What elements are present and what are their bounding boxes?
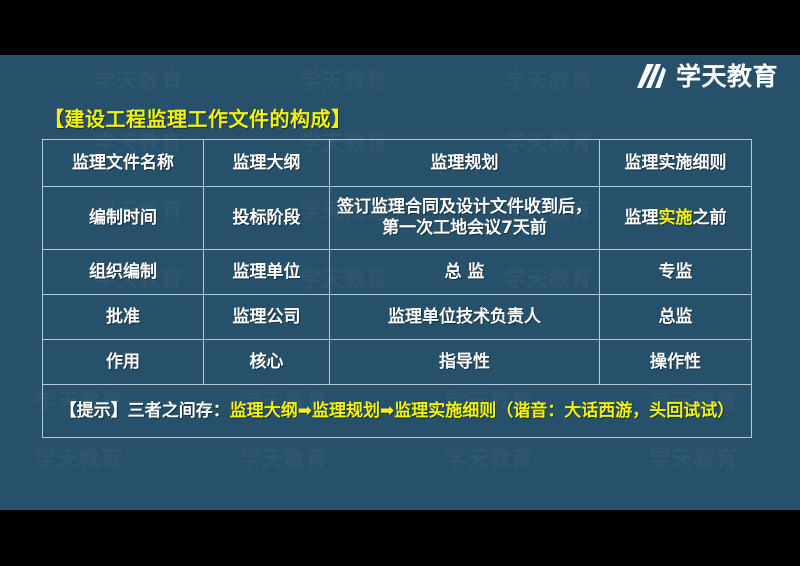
tip-lead-text: 【提示】三者之间存： xyxy=(60,401,230,421)
cell-rules-compile-time: 监理实施之前 xyxy=(600,187,752,250)
letterbox-top xyxy=(0,0,800,55)
cell-plan-organize: 总 监 xyxy=(330,250,600,295)
cell-part-plain: 监理 xyxy=(625,208,659,228)
header-cell-outline: 监理大纲 xyxy=(204,140,330,187)
header-cell-plan: 监理规划 xyxy=(330,140,600,187)
cell-part-highlight: 实施 xyxy=(659,208,693,228)
slide-canvas: 学天教育 学天教育 学天教育 学天教育 学天教育 学天教育 学天教育 学天教育 … xyxy=(0,55,800,510)
letterbox-bottom xyxy=(0,510,800,566)
brand-name: 学天教育 xyxy=(676,64,778,89)
cell-outline-compile-time: 投标阶段 xyxy=(204,187,330,250)
table-header-row: 监理文件名称 监理大纲 监理规划 监理实施细则 xyxy=(43,140,752,187)
cell-rules-approve: 总监 xyxy=(600,295,752,340)
page-title: 【建设工程监理工作文件的构成】 xyxy=(44,103,352,132)
watermark-tile: 学天教育 xyxy=(445,443,533,473)
header-cell-rules: 监理实施细则 xyxy=(600,140,752,187)
cell-outline-organize: 监理单位 xyxy=(204,250,330,295)
row-label-approve: 批准 xyxy=(43,295,204,340)
table-row: 批准 监理公司 监理单位技术负责人 总监 xyxy=(43,295,752,340)
table-tip-row: 【提示】三者之间存：监理大纲➡监理规划➡监理实施细则（谐音：大话西游，头回试试） xyxy=(43,385,752,438)
table-row: 组织编制 监理单位 总 监 专监 xyxy=(43,250,752,295)
cell-rules-function: 操作性 xyxy=(600,340,752,385)
monitoring-documents-table: 监理文件名称 监理大纲 监理规划 监理实施细则 编制时间 投标阶段 签订监理合同… xyxy=(42,139,752,438)
cell-plan-approve: 监理单位技术负责人 xyxy=(330,295,600,340)
row-label-function: 作用 xyxy=(43,340,204,385)
watermark-tile: 学天教育 xyxy=(650,443,738,473)
watermark-tile: 学天教育 xyxy=(95,65,183,95)
cell-outline-function: 核心 xyxy=(204,340,330,385)
row-label-organize: 组织编制 xyxy=(43,250,204,295)
watermark-tile: 学天教育 xyxy=(35,443,123,473)
tip-body-text: 监理大纲➡监理规划➡监理实施细则（谐音：大话西游，头回试试） xyxy=(230,401,735,421)
slide-root: 学天教育 学天教育 学天教育 学天教育 学天教育 学天教育 学天教育 学天教育 … xyxy=(0,0,800,566)
row-label-compile-time: 编制时间 xyxy=(43,187,204,250)
cell-outline-approve: 监理公司 xyxy=(204,295,330,340)
watermark-tile: 学天教育 xyxy=(300,65,388,95)
header-cell-doc-name: 监理文件名称 xyxy=(43,140,204,187)
cell-rules-organize: 专监 xyxy=(600,250,752,295)
watermark-tile: 学天教育 xyxy=(240,443,328,473)
table-row: 作用 核心 指导性 操作性 xyxy=(43,340,752,385)
brand-logo: 学天教育 xyxy=(635,63,778,90)
stripe-mark-icon xyxy=(635,63,669,90)
cell-part-plain: 之前 xyxy=(693,208,727,228)
cell-plan-function: 指导性 xyxy=(330,340,600,385)
cell-plan-compile-time: 签订监理合同及设计文件收到后，第一次工地会议7天前 xyxy=(330,187,600,250)
table-row: 编制时间 投标阶段 签订监理合同及设计文件收到后，第一次工地会议7天前 监理实施… xyxy=(43,187,752,250)
watermark-tile: 学天教育 xyxy=(505,65,593,95)
tip-cell: 【提示】三者之间存：监理大纲➡监理规划➡监理实施细则（谐音：大话西游，头回试试） xyxy=(43,385,752,438)
